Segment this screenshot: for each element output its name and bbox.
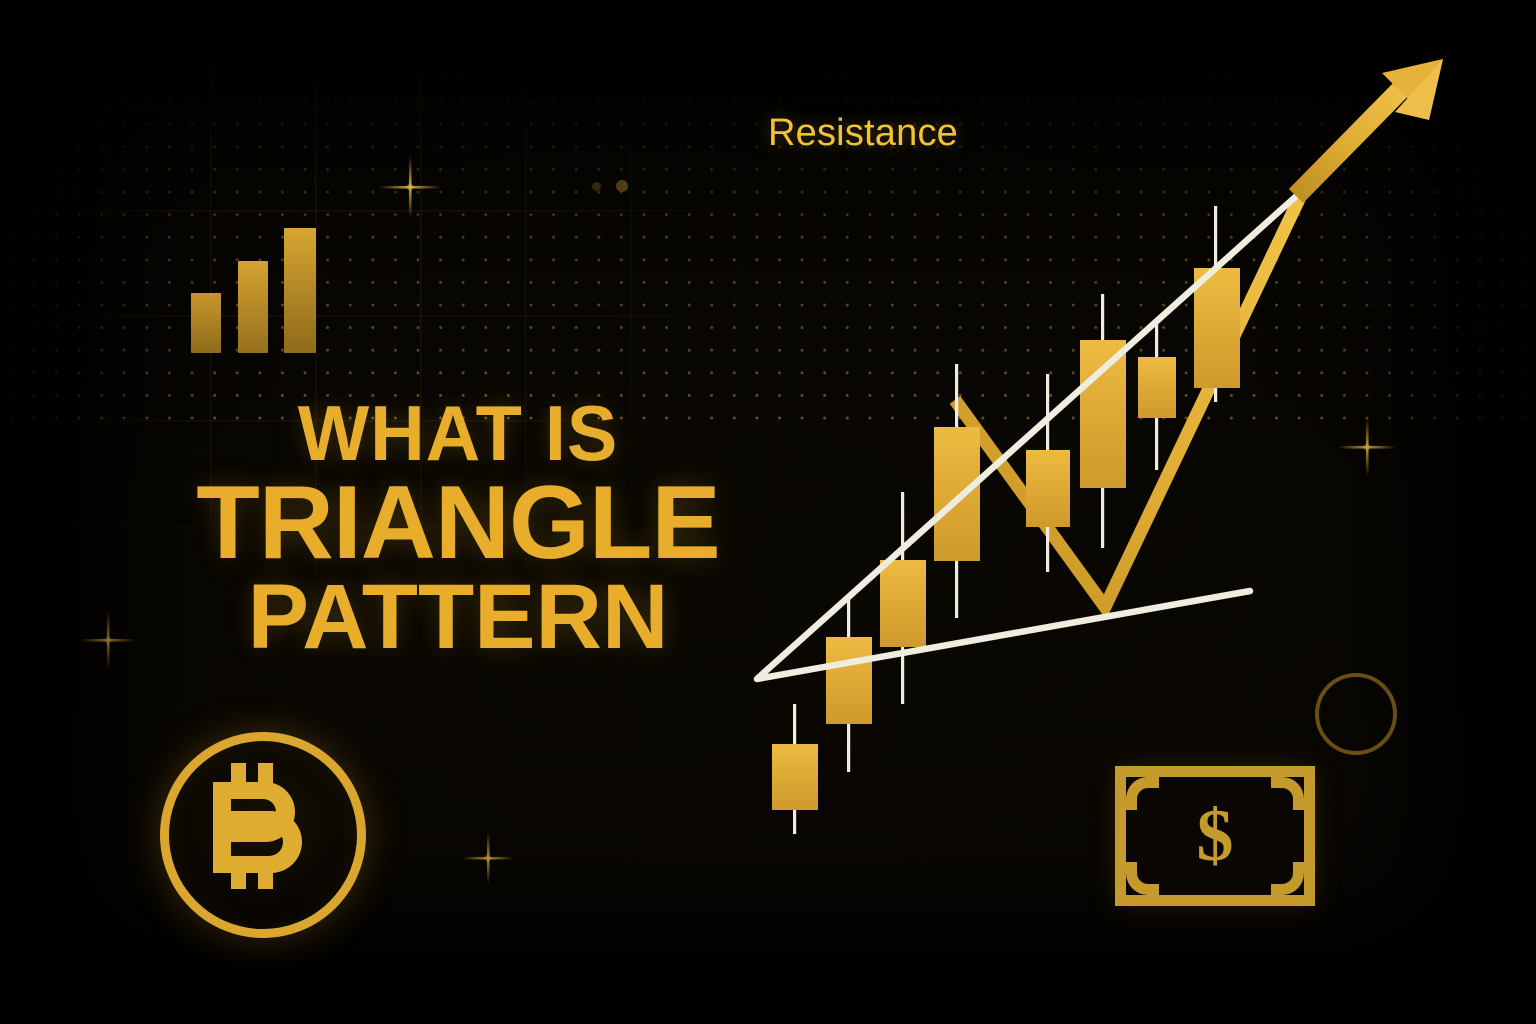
candle-3 xyxy=(880,492,926,704)
upper-trendline xyxy=(758,191,1302,678)
dollar-banknote-icon: $ xyxy=(1115,766,1315,906)
support-trendline xyxy=(757,591,1250,679)
resistance-label: Resistance xyxy=(768,112,958,155)
bitcoin-coin-icon xyxy=(160,732,366,938)
dollar-symbol: $ xyxy=(1126,799,1304,873)
bitcoin-b-glyph xyxy=(169,741,339,911)
triangle-trendlines xyxy=(757,191,1302,679)
price-path-line xyxy=(955,193,1302,607)
candle-7 xyxy=(1138,318,1176,470)
poster-canvas: $ Resistance WHAT IS TRIANGLE PATTERN xyxy=(0,0,1536,1024)
candle-8 xyxy=(1194,206,1240,402)
candle-1 xyxy=(772,704,818,834)
candlestick-series xyxy=(772,206,1240,834)
candle-6 xyxy=(1080,294,1126,548)
candle-2 xyxy=(826,596,872,772)
bar-chart-bar-2 xyxy=(238,261,268,353)
candle-4 xyxy=(934,364,980,618)
bar-chart-icon xyxy=(191,228,316,353)
title-line-3: PATTERN xyxy=(178,575,738,660)
breakout-arrow-icon xyxy=(1296,59,1443,196)
page-title: WHAT IS TRIANGLE PATTERN xyxy=(178,398,738,660)
title-line-1: WHAT IS xyxy=(186,398,729,470)
title-line-2: TRIANGLE xyxy=(178,476,738,572)
bar-chart-bar-1 xyxy=(191,293,221,353)
circle-outline-icon xyxy=(1315,673,1397,755)
bar-chart-bar-3 xyxy=(284,228,316,353)
